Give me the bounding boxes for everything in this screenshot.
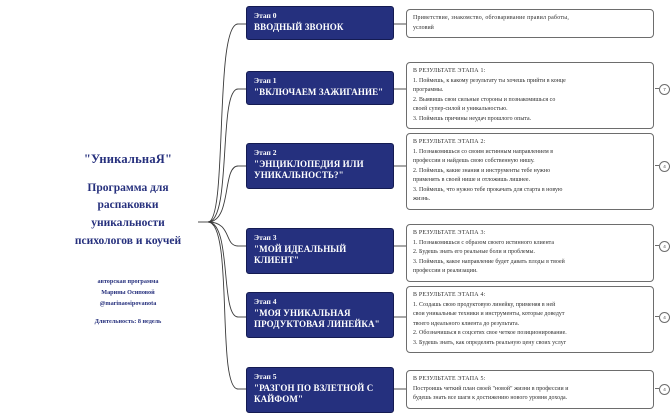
stage-node-3[interactable]: Этап 3 "МОЙ ИДЕАЛЬНЫЙ КЛИЕНТ" — [246, 228, 394, 274]
stage-node-5[interactable]: Этап 5 "РАЗГОН ПО ВЗЛЕТНОЙ С КАЙФОМ" — [246, 367, 394, 413]
stage-title: ВВОДНЫЙ ЗВОНОК — [254, 22, 386, 34]
result-line: 2. Поймешь, какие знания и инструменты т… — [413, 167, 647, 177]
author-line-2: Марины Осиповой — [52, 288, 204, 299]
result-box-5: В РЕЗУЛЬТАТЕ ЭТАПА 5: Построишь четкий п… — [406, 370, 654, 409]
program-author: авторская программа Марины Осиповой @mar… — [52, 277, 204, 310]
result-line: В РЕЗУЛЬТАТЕ ЭТАПА 4: — [413, 291, 647, 301]
result-line: Приветствие, знакомство, обговаривание п… — [413, 14, 647, 24]
result-box-0: Приветствие, знакомство, обговаривание п… — [406, 9, 654, 38]
stage-number: Этап 1 — [254, 77, 386, 86]
result-line: 3. Поймешь причины неудач прошлого опыта… — [413, 115, 647, 125]
program-subtitle-line-4: психологов и коучей — [52, 233, 204, 251]
result-line: профессии и реализации. — [413, 267, 647, 277]
program-subtitle-line-2: распаковки — [52, 197, 204, 215]
result-line: В РЕЗУЛЬТАТЕ ЭТАПА 3: — [413, 229, 647, 239]
stage-number: Этап 2 — [254, 149, 386, 158]
result-line: 2. Обозначишься в соцсетях свое четкое п… — [413, 329, 647, 339]
result-line: В РЕЗУЛЬТАТЕ ЭТАПА 1: — [413, 67, 647, 77]
result-line: жизнь. — [413, 195, 647, 205]
result-line: будешь знать все шаги к достижению новог… — [413, 394, 647, 404]
stage-node-2[interactable]: Этап 2 "ЭНЦИКЛОПЕДИЯ ИЛИ УНИКАЛЬНОСТЬ?" — [246, 143, 394, 189]
stage-title: "РАЗГОН ПО ВЗЛЕТНОЙ С КАЙФОМ" — [254, 383, 386, 406]
result-line: программы. — [413, 86, 647, 96]
result-line: твоего идеального клиента до результата. — [413, 320, 647, 330]
result-line: 2. Будешь знать его реальные боли и проб… — [413, 248, 647, 258]
result-box-1: В РЕЗУЛЬТАТЕ ЭТАПА 1: 1. Поймешь, к како… — [406, 62, 654, 129]
result-line: 1. Поймешь, к какому результату ты хочеш… — [413, 77, 647, 87]
stage-node-1[interactable]: Этап 1 "ВКЛЮЧАЕМ ЗАЖИГАНИЕ" — [246, 71, 394, 105]
author-line-1: авторская программа — [52, 277, 204, 288]
result-line: В РЕЗУЛЬТАТЕ ЭТАПА 2: — [413, 138, 647, 148]
count-badge-4[interactable]: 4 — [659, 312, 670, 323]
result-box-3: В РЕЗУЛЬТАТЕ ЭТАПА 3: 1. Познакомишься с… — [406, 224, 654, 282]
program-name: "УникальнаЯ" — [52, 152, 204, 168]
stage-number: Этап 0 — [254, 12, 386, 21]
result-line: 1. Создашь свою продуктовую линейку, при… — [413, 301, 647, 311]
program-subtitle: Программа для распаковки уникальности пс… — [52, 180, 204, 251]
result-line: 1. Познакомишься с образом своего истинн… — [413, 239, 647, 249]
result-line: условий — [413, 24, 647, 34]
result-line: 2. Выявишь свои сильные стороны и познак… — [413, 96, 647, 106]
stage-title: "МОЯ УНИКАЛЬНАЯ ПРОДУКТОВАЯ ЛИНЕЙКА" — [254, 308, 386, 331]
count-badge-5[interactable]: 4 — [659, 384, 670, 395]
result-line: своей супер-силой и уникальностью. — [413, 105, 647, 115]
stage-node-0[interactable]: Этап 0 ВВОДНЫЙ ЗВОНОК — [246, 6, 394, 40]
stage-number: Этап 3 — [254, 234, 386, 243]
program-title-block: "УникальнаЯ" Программа для распаковки ун… — [52, 152, 204, 325]
stage-title: "ВКЛЮЧАЕМ ЗАЖИГАНИЕ" — [254, 87, 386, 99]
result-line: 3. Поймешь, какое направление будет дава… — [413, 258, 647, 268]
result-line: Построишь четкий план своей "новой" жизн… — [413, 385, 647, 395]
result-box-4: В РЕЗУЛЬТАТЕ ЭТАПА 4: 1. Создашь свою пр… — [406, 286, 654, 353]
stage-title: "МОЙ ИДЕАЛЬНЫЙ КЛИЕНТ" — [254, 244, 386, 267]
stage-title: "ЭНЦИКЛОПЕДИЯ ИЛИ УНИКАЛЬНОСТЬ?" — [254, 159, 386, 182]
count-badge-3[interactable]: 4 — [659, 241, 670, 252]
program-subtitle-line-3: уникальности — [52, 215, 204, 233]
stage-node-4[interactable]: Этап 4 "МОЯ УНИКАЛЬНАЯ ПРОДУКТОВАЯ ЛИНЕЙ… — [246, 292, 394, 338]
stage-number: Этап 4 — [254, 298, 386, 307]
count-badge-2[interactable]: 4 — [659, 161, 670, 172]
result-line: 3. Будешь знать, как определять реальную… — [413, 339, 647, 349]
program-duration: Длительность: 8 недель — [52, 318, 204, 325]
result-line: применять в своей нише и отложишь лишнее… — [413, 176, 647, 186]
result-line: 1. Познакомишься со своим истинным напра… — [413, 148, 647, 158]
result-line: профессии и найдешь свою собственную ниш… — [413, 157, 647, 167]
program-subtitle-line-1: Программа для — [52, 180, 204, 198]
result-box-2: В РЕЗУЛЬТАТЕ ЭТАПА 2: 1. Познакомишься с… — [406, 133, 654, 210]
result-line: В РЕЗУЛЬТАТЕ ЭТАПА 5: — [413, 375, 647, 385]
result-line: 3. Поймешь, что нужно тебе прокачать для… — [413, 186, 647, 196]
mindmap-canvas: "УникальнаЯ" Программа для распаковки ун… — [0, 0, 671, 416]
count-badge-1[interactable]: 7 — [659, 84, 670, 95]
stage-number: Этап 5 — [254, 373, 386, 382]
result-line: свои уникальные техники и инструменты, к… — [413, 310, 647, 320]
author-handle: @marinaosipovanota — [52, 299, 204, 310]
